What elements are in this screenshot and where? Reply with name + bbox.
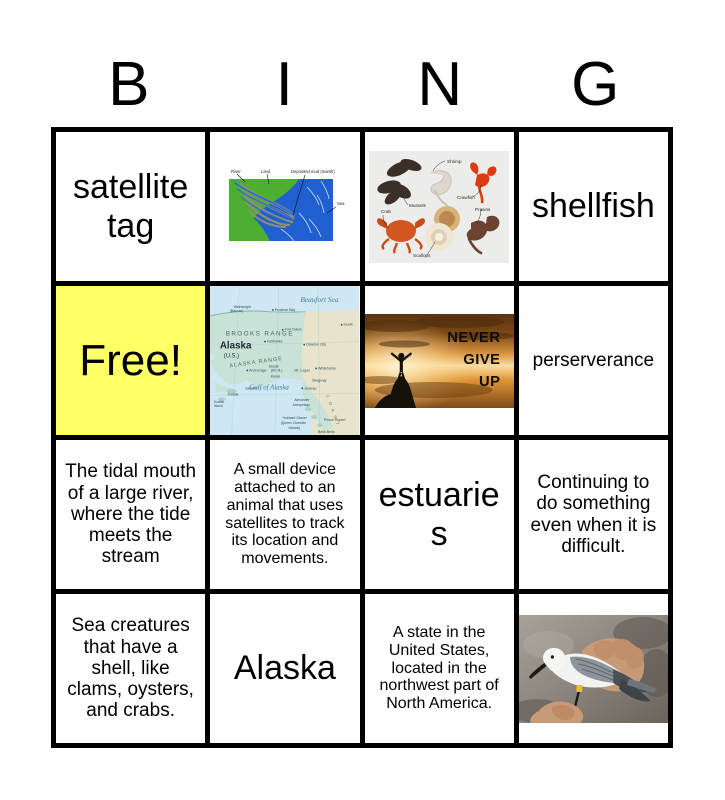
bingo-cell-r1c4[interactable]: shellfish <box>519 132 668 281</box>
free-label: Free! <box>56 332 205 389</box>
bingo-cell-r1c3[interactable]: Shrimp Mussels Crawfish Crab Prawns Scal… <box>365 132 514 281</box>
estuary-delta-image: River Land Deposited mud (marsh) Sea <box>210 132 359 281</box>
svg-text:Sea: Sea <box>337 201 345 206</box>
svg-text:UP: UP <box>479 373 500 389</box>
shellfish-image: Shrimp Mussels Crawfish Crab Prawns Scal… <box>365 132 514 281</box>
bingo-cell-r2c2[interactable]: Beaufort Sea Gulf of Alaska BROOKS RANGE… <box>210 286 359 435</box>
svg-text:Prawns: Prawns <box>475 207 491 212</box>
bingo-card: B I N G satellite tag River Land Deposit… <box>0 0 725 800</box>
svg-text:Inuvik: Inuvik <box>344 323 353 327</box>
svg-text:Bella Bella: Bella Bella <box>318 430 335 434</box>
cell-label: perserverance <box>519 346 668 375</box>
svg-text:(Mt. M.): (Mt. M.) <box>271 368 282 372</box>
svg-text:Beaufort Sea: Beaufort Sea <box>301 295 339 304</box>
bingo-grid: satellite tag River Land Deposited mud (… <box>51 127 673 748</box>
banded-shorebird-image <box>519 594 668 743</box>
bingo-cell-r4c2[interactable]: Alaska <box>210 594 359 743</box>
never-give-up-image: NEVER GIVE UP <box>365 286 514 435</box>
svg-text:Alaska: Alaska <box>220 341 252 352</box>
header-letter-n: N <box>362 45 518 125</box>
svg-text:Crab: Crab <box>381 209 391 214</box>
cell-label: estuaries <box>365 472 514 556</box>
svg-text:(Queen Charlotte: (Queen Charlotte <box>281 421 307 425</box>
svg-text:Fairbanks: Fairbanks <box>267 340 283 344</box>
cell-label: Continuing to do something even when it … <box>519 468 668 561</box>
svg-text:Archipelago: Archipelago <box>293 403 311 407</box>
cell-label: A state in the United States, located in… <box>365 620 514 718</box>
svg-text:Land: Land <box>261 169 271 174</box>
svg-text:Mt. Logan: Mt. Logan <box>295 368 311 372</box>
cell-label: The tidal mouth of a large river, where … <box>56 457 205 571</box>
svg-text:Dawson City: Dawson City <box>306 343 326 347</box>
bingo-cell-r2c4[interactable]: perserverance <box>519 286 668 435</box>
svg-text:Skagway: Skagway <box>312 378 327 382</box>
svg-text:NEVER: NEVER <box>447 329 500 345</box>
svg-text:(Barrow): (Barrow) <box>230 309 244 313</box>
svg-text:Scallops: Scallops <box>413 253 431 258</box>
svg-text:Hubbard Glacier: Hubbard Glacier <box>283 416 308 420</box>
svg-text:GIVE: GIVE <box>463 351 500 367</box>
bingo-header: B I N G <box>51 45 673 125</box>
svg-text:Whitehorse: Whitehorse <box>318 366 336 370</box>
bingo-cell-r3c2[interactable]: A small device attached to an animal tha… <box>210 440 359 589</box>
bingo-cell-r4c3[interactable]: A state in the United States, located in… <box>365 594 514 743</box>
bingo-cell-r1c2[interactable]: River Land Deposited mud (marsh) Sea <box>210 132 359 281</box>
bingo-cell-r4c1[interactable]: Sea creatures that have a shell, like cl… <box>56 594 205 743</box>
svg-text:Mussels: Mussels <box>409 203 427 208</box>
svg-text:Island: Island <box>214 404 223 408</box>
svg-text:Shrimp: Shrimp <box>447 159 462 164</box>
svg-text:(U.S.): (U.S.) <box>224 353 239 359</box>
bingo-cell-r3c4[interactable]: Continuing to do something even when it … <box>519 440 668 589</box>
svg-text:Kodiak: Kodiak <box>228 392 239 396</box>
svg-text:River: River <box>231 169 241 174</box>
svg-text:Deposited mud (marsh): Deposited mud (marsh) <box>291 169 335 174</box>
cell-label: A small device attached to an animal tha… <box>210 457 359 572</box>
header-letter-g: G <box>518 45 674 125</box>
svg-text:Juneau: Juneau <box>305 386 317 390</box>
bingo-cell-r3c3[interactable]: estuaries <box>365 440 514 589</box>
svg-text:Anchorage: Anchorage <box>250 368 267 372</box>
bingo-cell-r4c4[interactable] <box>519 594 668 743</box>
svg-text:Crawfish: Crawfish <box>457 195 475 200</box>
header-letter-b: B <box>51 45 207 125</box>
cell-label: satellite tag <box>56 164 205 248</box>
bingo-cell-r1c1[interactable]: satellite tag <box>56 132 205 281</box>
cell-label: shellfish <box>519 183 668 229</box>
svg-text:Islands): Islands) <box>289 426 301 430</box>
header-letter-i: I <box>207 45 363 125</box>
svg-text:Fort Yukon: Fort Yukon <box>285 328 302 332</box>
bingo-cell-free[interactable]: Free! <box>56 286 205 435</box>
bingo-cell-r3c1[interactable]: The tidal mouth of a large river, where … <box>56 440 205 589</box>
svg-text:Seward: Seward <box>246 386 258 390</box>
bingo-cell-r2c3[interactable]: NEVER GIVE UP <box>365 286 514 435</box>
alaska-map-image: Beaufort Sea Gulf of Alaska BROOKS RANGE… <box>210 286 359 435</box>
svg-text:Kenai: Kenai <box>271 374 280 378</box>
cell-label: Sea creatures that have a shell, like cl… <box>56 611 205 725</box>
svg-text:Prudhoe Bay: Prudhoe Bay <box>275 308 296 312</box>
svg-text:Alexander: Alexander <box>295 398 311 402</box>
cell-label: Alaska <box>210 645 359 691</box>
